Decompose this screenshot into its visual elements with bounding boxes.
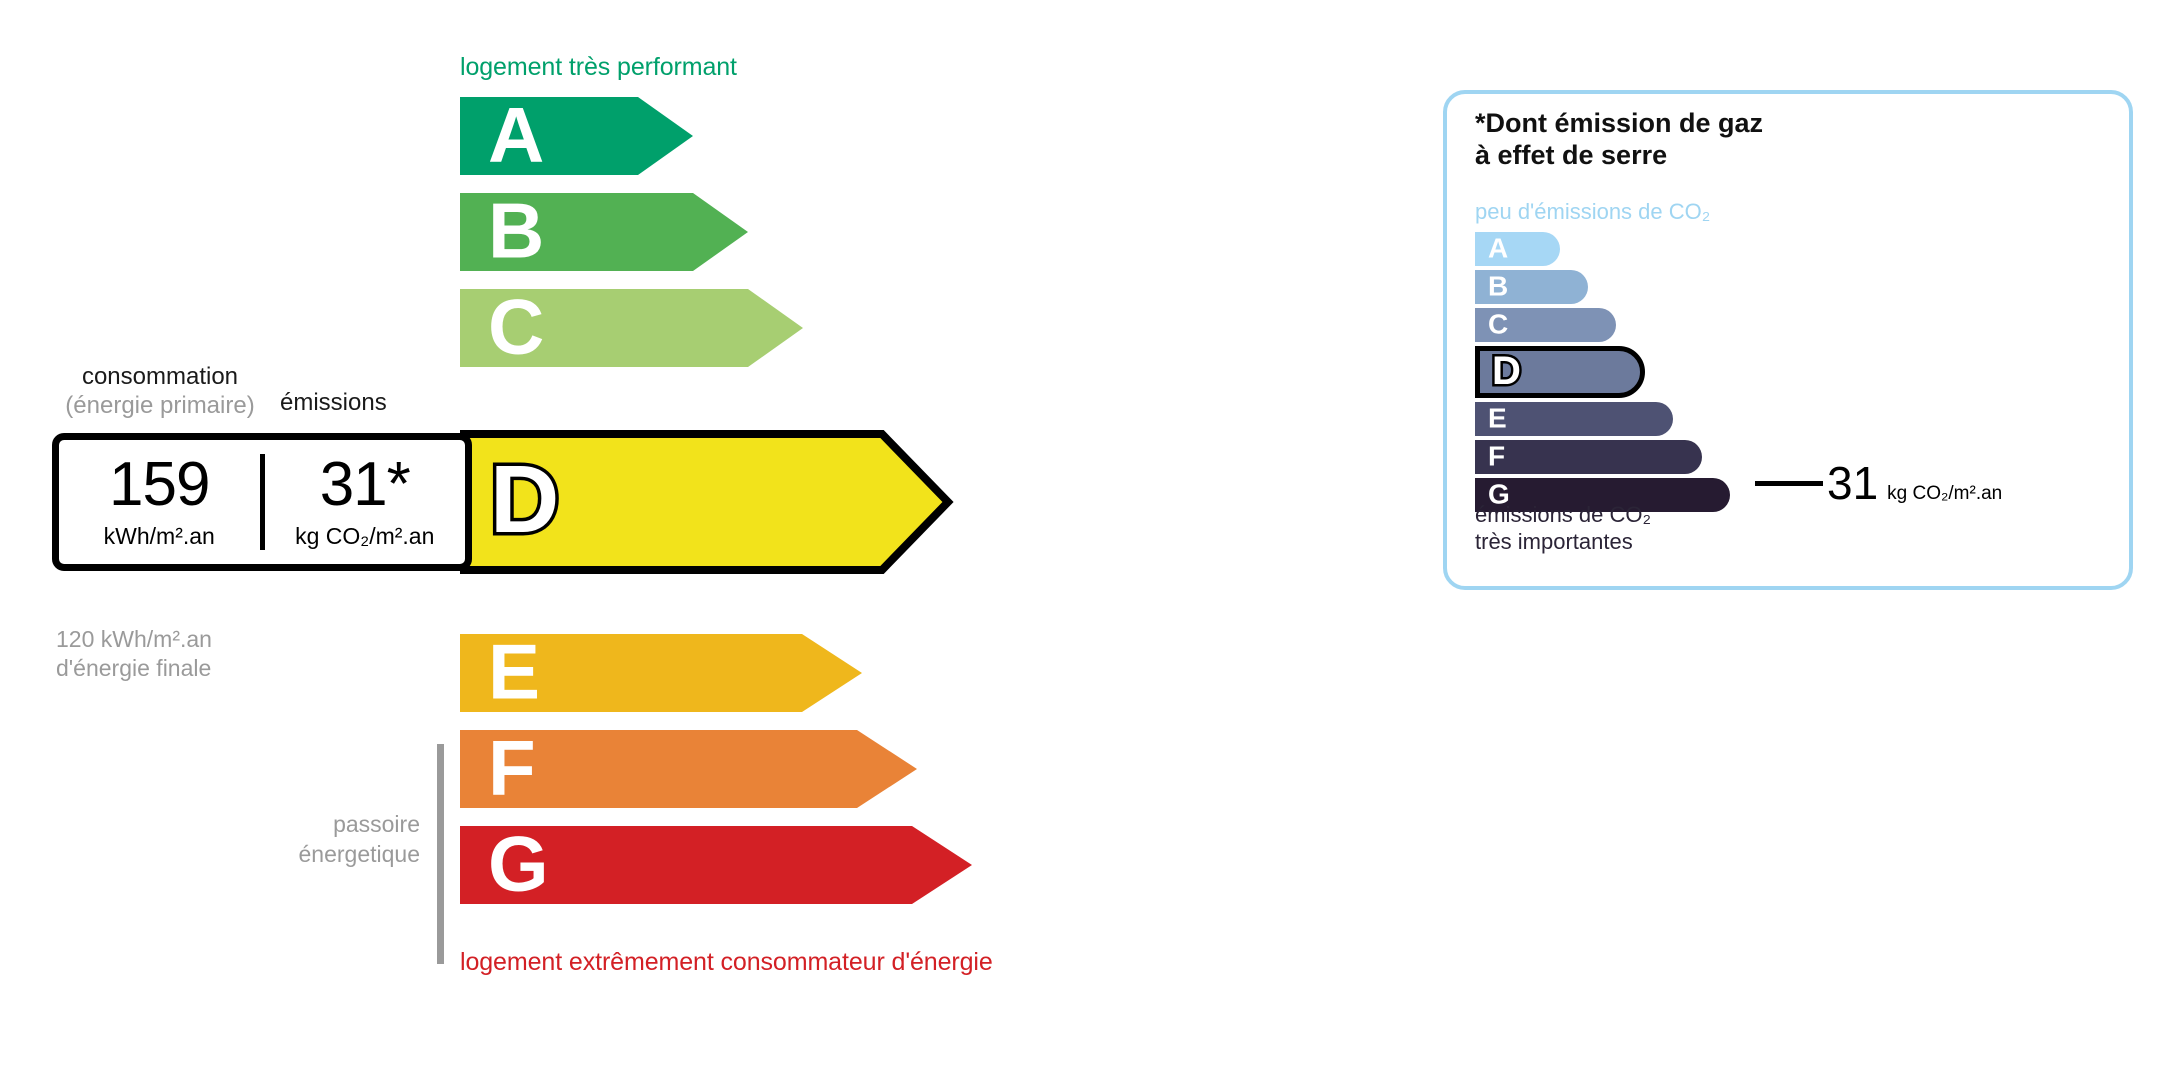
passoire-line2: énergetique (299, 841, 421, 867)
co2-bar-a: A (1475, 232, 1560, 266)
co2-class-letter-d: D (1492, 351, 1521, 391)
final-energy-line1: 120 kWh/m².an (56, 626, 212, 652)
co2-emissions-panel: *Dont émission de gaz à effet de serre p… (1443, 90, 2133, 590)
energy-value-box: 159 kWh/m².an 31* kg CO₂/m².an (52, 433, 472, 571)
co2-title-line2: à effet de serre (1475, 140, 1667, 170)
co2-caption-bottom-line2: très importantes (1475, 529, 1633, 554)
co2-class-letter-e: E (1488, 404, 1507, 432)
arrow-shape-g (460, 826, 972, 904)
co2-caption-top: peu d'émissions de CO₂ (1475, 199, 1710, 225)
co2-panel-title: *Dont émission de gaz à effet de serre (1475, 108, 1763, 171)
co2-bar-f: F (1475, 440, 1702, 474)
final-energy-line2: d'énergie finale (56, 655, 211, 681)
consumption-header-line2: (énergie primaire) (65, 392, 254, 419)
co2-caption-bottom: émissions de CO₂ très importantes (1475, 502, 1651, 556)
energy-arrow-g: G (460, 826, 972, 904)
co2-bar-list: ABCDEFG (1475, 232, 1730, 516)
arrow-shape-a (460, 97, 693, 175)
energy-arrow-f: F (460, 730, 917, 808)
energy-arrow-d: D (460, 430, 960, 574)
energy-arrow-c: C (460, 289, 803, 367)
passoire-label: passoire énergetique (230, 810, 420, 870)
scale-caption-top: logement très performant (460, 53, 737, 82)
co2-bar-c: C (1475, 308, 1616, 342)
energy-arrow-b: B (460, 193, 748, 271)
arrow-shape-c (460, 289, 803, 367)
consumption-value-cell: 159 kWh/m².an (59, 440, 260, 564)
co2-class-letter-a: A (1488, 234, 1508, 262)
co2-caption-bottom-line1: émissions de CO₂ (1475, 502, 1651, 527)
callout-leader-line (1755, 481, 1823, 486)
consumption-unit: kWh/m².an (104, 523, 215, 550)
co2-title-line1: *Dont émission de gaz (1475, 108, 1763, 138)
energy-arrow-a: A (460, 97, 693, 175)
consumption-value: 159 (109, 454, 209, 516)
consumption-header-line1: consommation (82, 363, 238, 390)
co2-bar-d: D (1475, 346, 1645, 398)
emissions-unit: kg CO₂/m².an (295, 523, 434, 550)
scale-caption-bottom: logement extrêmement consommateur d'éner… (460, 948, 993, 977)
co2-class-letter-f: F (1488, 442, 1505, 470)
final-energy-footnote: 120 kWh/m².an d'énergie finale (56, 625, 212, 684)
energy-performance-diagram: logement très performant ABCEFG D consom… (0, 0, 1340, 1079)
arrow-shape-b (460, 193, 748, 271)
emissions-header: émissions (280, 389, 387, 417)
passoire-bracket (437, 744, 444, 964)
energy-arrow-e: E (460, 634, 862, 712)
co2-class-letter-c: C (1488, 310, 1508, 338)
co2-callout-unit: kg CO₂/m².an (1887, 483, 2002, 505)
co2-class-letter-b: B (1488, 272, 1508, 300)
emissions-value: 31* (320, 454, 410, 516)
arrow-shape-d (460, 430, 960, 574)
co2-bar-e: E (1475, 402, 1673, 436)
co2-value-callout: 31 kg CO₂/m².an (1755, 460, 2002, 506)
consumption-header: consommation (énergie primaire) (55, 362, 265, 421)
emissions-value-cell: 31* kg CO₂/m².an (265, 440, 466, 564)
arrow-shape-e (460, 634, 862, 712)
arrow-shape-f (460, 730, 917, 808)
passoire-line1: passoire (333, 811, 420, 837)
co2-callout-value: 31 (1827, 460, 1878, 506)
co2-bar-b: B (1475, 270, 1588, 304)
